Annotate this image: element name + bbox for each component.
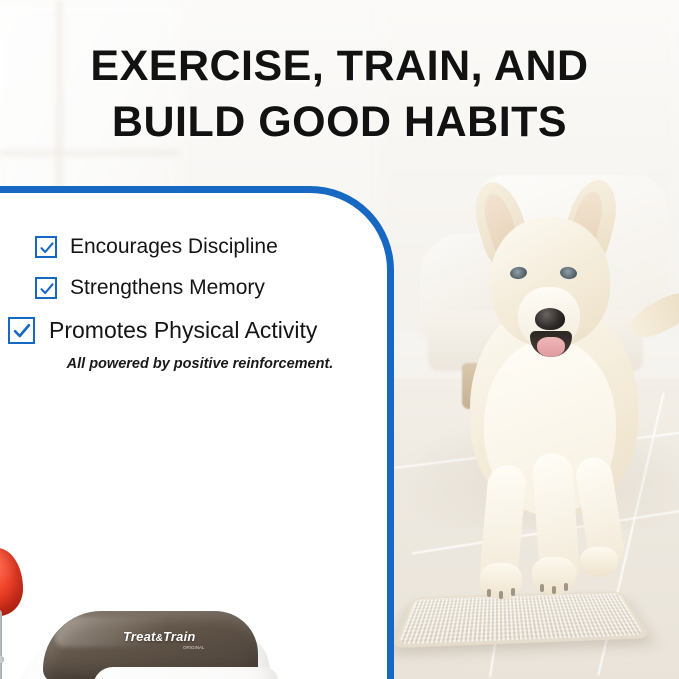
target-stick-pole — [0, 610, 2, 679]
dog-paw — [532, 557, 576, 595]
benefits-checklist: Encourages Discipline Strengthens Memory — [35, 235, 365, 361]
dog-tail — [625, 285, 679, 344]
feature-panel: Encourages Discipline Strengthens Memory — [0, 186, 394, 679]
brand-name-2: Train — [163, 629, 196, 644]
checklist-item-label: Encourages Discipline — [70, 235, 278, 259]
brand-sublabel: ORIGINAL — [183, 645, 205, 650]
brand-ampersand: & — [156, 633, 163, 644]
headline-line-1: EXERCISE, TRAIN, AND — [0, 38, 679, 94]
brand-logo: Treat&Train — [123, 629, 196, 644]
headline: EXERCISE, TRAIN, AND BUILD GOOD HABITS — [0, 38, 679, 150]
dog-paw — [580, 547, 618, 577]
checkbox-checked-icon[interactable] — [35, 236, 57, 258]
dog-paw — [480, 563, 522, 599]
panel-tagline: All powered by positive reinforcement. — [35, 356, 365, 372]
dog-nose — [535, 308, 565, 330]
checklist-item-encourages-discipline[interactable]: Encourages Discipline — [35, 235, 365, 259]
checkbox-checked-icon[interactable] — [35, 277, 57, 299]
treat-dispenser-product: Treat&Train ORIGINAL — [5, 593, 325, 679]
dispenser-front-panel — [93, 667, 278, 679]
headline-line-2: BUILD GOOD HABITS — [0, 94, 679, 150]
checklist-item-label: Promotes Physical Activity — [49, 317, 317, 344]
checklist-item-strengthens-memory[interactable]: Strengthens Memory — [35, 276, 365, 300]
window-mullion-horizontal — [0, 150, 180, 156]
checkbox-checked-icon[interactable] — [8, 317, 35, 344]
dog-photo — [432, 195, 679, 665]
checklist-item-label: Strengthens Memory — [70, 276, 265, 300]
feature-panel-inner: Encourages Discipline Strengthens Memory — [0, 193, 387, 679]
target-stick-joint — [0, 656, 4, 663]
dog-tongue — [537, 337, 565, 357]
brand-name: Treat — [123, 629, 156, 644]
product-marketing-image: EXERCISE, TRAIN, AND BUILD GOOD HABITS E… — [0, 0, 679, 679]
checklist-item-promotes-physical-activity[interactable]: Promotes Physical Activity — [8, 317, 365, 344]
